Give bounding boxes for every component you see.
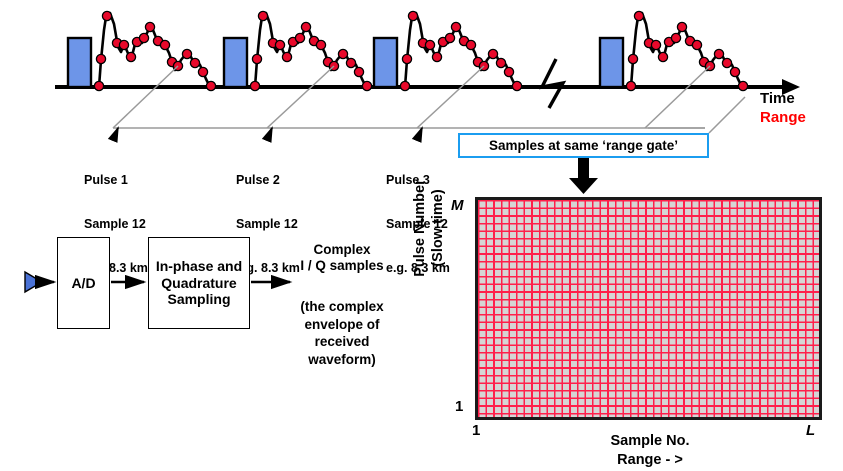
ad-converter-label: A/D [71, 275, 95, 292]
timeline-break-icon [542, 59, 563, 108]
ad-converter-block: A/D [57, 237, 110, 329]
pulse-1-line2: Sample 12 [84, 217, 148, 232]
amplifier-triangle-icon [25, 272, 42, 292]
transmit-pulse-rect [224, 38, 247, 87]
datacube-matrix [475, 197, 822, 420]
callout-leader-line [709, 97, 745, 133]
range-axis-label: Range [760, 109, 806, 127]
iq-sampling-label: In-phase and Quadrature Sampling [156, 258, 242, 308]
transmit-pulse-rect [68, 38, 91, 87]
pulse-2-line1: Pulse 2 [236, 173, 300, 188]
complex-iq-output-label: Complex I / Q samples [287, 242, 397, 274]
pulse-train-1 [68, 11, 216, 90]
pulse-train-2 [224, 11, 372, 90]
range-gate-callout-text: Samples at same ‘range gate’ [489, 138, 678, 153]
pulse-callout-arrows [113, 128, 422, 140]
matrix-x-axis-title: Sample No. Range - > [560, 432, 740, 470]
time-axis-label: Time [760, 90, 795, 108]
matrix-x-left-label: 1 [472, 422, 480, 439]
transmit-pulse-rect [600, 38, 623, 87]
range-gate-callout-box: Samples at same ‘range gate’ [458, 133, 709, 158]
return-envelope-waveform [255, 13, 368, 87]
callout-down-arrow [569, 158, 598, 194]
matrix-y-axis-title-text: Pulse Number (Slow time) [411, 68, 447, 388]
return-envelope-waveform [99, 13, 212, 87]
matrix-y-bottom-label: 1 [455, 398, 463, 415]
complex-envelope-note: (the complex envelope of received wavefo… [277, 298, 407, 368]
radar-sampling-diagram: Time Range Pulse 1 Sample 12 e.g. 8.3 km… [0, 0, 843, 471]
pulse-1-line1: Pulse 1 [84, 173, 148, 188]
matrix-x-right-label: L [806, 422, 815, 439]
iq-sampling-block: In-phase and Quadrature Sampling [148, 237, 250, 329]
matrix-y-axis-title: Pulse Number (Slow time) [393, 68, 466, 228]
pulse-train-4 [600, 11, 748, 90]
return-envelope-waveform [631, 13, 744, 87]
pulse-2-line2: Sample 12 [236, 217, 300, 232]
